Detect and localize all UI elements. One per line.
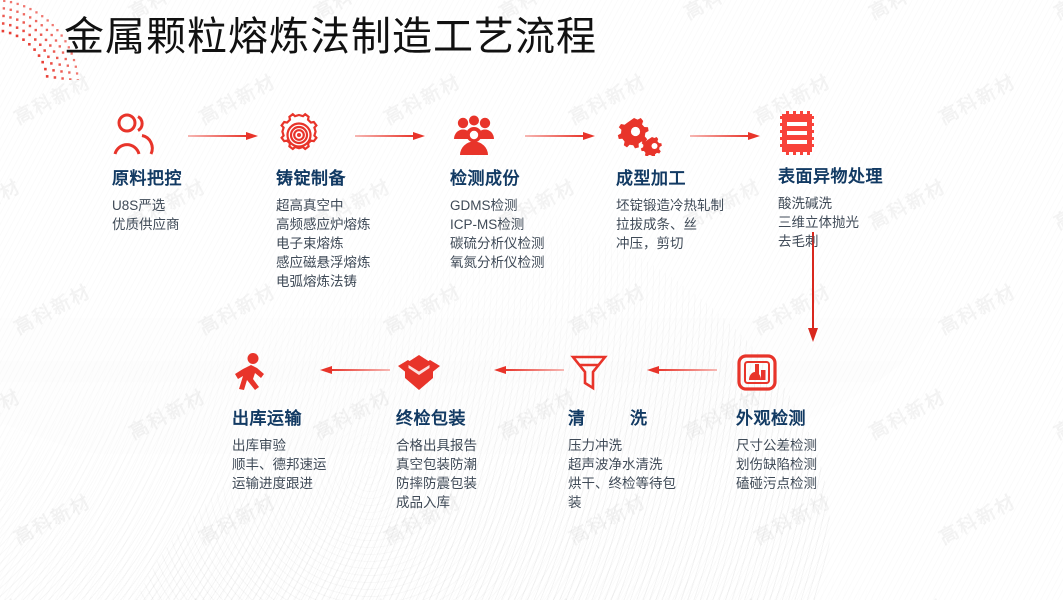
- step-raw-material-control[interactable]: 原料把控 U8S严选 优质供应商: [112, 112, 182, 234]
- page-title: 金属颗粒熔炼法制造工艺流程: [64, 4, 597, 62]
- walking-person-icon: [232, 352, 327, 398]
- step-forming-processing[interactable]: 成型加工 坯锭锻造冷热轧制 拉拔成条、丝 冲压，剪切: [616, 112, 724, 253]
- step-line: 优质供应商: [112, 215, 182, 234]
- step-title: 出库运输: [232, 404, 327, 429]
- background-decoration: [0, 0, 1063, 600]
- funnel-icon: [568, 352, 688, 398]
- step-line: 合格出具报告: [396, 436, 477, 455]
- step-line: ICP-MS检测: [450, 215, 545, 234]
- step-cleaning[interactable]: 清 洗 压力冲洗 超声波净水清洗 烘干、终检等待包装: [568, 352, 688, 512]
- step-line: GDMS检测: [450, 196, 545, 215]
- document-lines-icon: [778, 110, 883, 156]
- arrow-bottom-2: [492, 364, 564, 376]
- step-line: 三维立体抛光: [778, 213, 883, 232]
- step-line: 碳硫分析仪检测: [450, 234, 545, 253]
- step-line: 高频感应炉熔炼: [276, 215, 371, 234]
- arrow-top-1: [188, 130, 258, 142]
- step-title: 原料把控: [112, 164, 182, 189]
- step-line: 拉拔成条、丝: [616, 215, 724, 234]
- step-line: 去毛刺: [778, 232, 883, 251]
- open-box-icon: [396, 352, 477, 398]
- step-line: 真空包装防潮: [396, 455, 477, 474]
- step-line: 划伤缺陷检测: [736, 455, 817, 474]
- step-line: U8S严选: [112, 196, 182, 215]
- step-appearance-inspection[interactable]: 外观检测 尺寸公差检测 划伤缺陷检测 磕碰污点检测: [736, 352, 817, 493]
- step-line: 电子束熔炼: [276, 234, 371, 253]
- step-title: 外观检测: [736, 404, 817, 429]
- step-line: 出库审验: [232, 436, 327, 455]
- arrow-bottom-3: [318, 364, 390, 376]
- step-line: 顺丰、德邦速运: [232, 455, 327, 474]
- step-line: 氧氮分析仪检测: [450, 253, 545, 272]
- step-composition-testing[interactable]: 检测成份 GDMS检测 ICP-MS检测 碳硫分析仪检测 氧氮分析仪检测: [450, 112, 545, 272]
- step-final-inspection-packaging[interactable]: 终检包装 合格出具报告 真空包装防潮 防摔防震包装 成品入库: [396, 352, 477, 512]
- people-group-icon: [450, 112, 545, 158]
- two-persons-icon: [112, 112, 182, 158]
- step-line: 酸洗碱洗: [778, 194, 883, 213]
- step-line: 尺寸公差检测: [736, 436, 817, 455]
- step-surface-treatment[interactable]: 表面异物处理 酸洗碱洗 三维立体抛光 去毛刺: [778, 110, 883, 251]
- step-line: 成品入库: [396, 493, 477, 512]
- step-title: 铸锭制备: [276, 164, 371, 189]
- double-gears-icon: [616, 112, 724, 158]
- step-line: 超高真空中: [276, 196, 371, 215]
- step-title: 终检包装: [396, 404, 477, 429]
- step-title: 表面异物处理: [778, 162, 883, 187]
- step-line: 电弧熔炼法铸: [276, 272, 371, 291]
- step-title: 检测成份: [450, 164, 545, 189]
- step-line: 磕碰污点检测: [736, 474, 817, 493]
- step-outbound-transport[interactable]: 出库运输 出库审验 顺丰、德邦速运 运输进度跟进: [232, 352, 327, 493]
- step-line: 坯锭锻造冷热轧制: [616, 196, 724, 215]
- step-line: 运输进度跟进: [232, 474, 327, 493]
- gear-rings-icon: [276, 112, 371, 158]
- step-line: 冲压，剪切: [616, 234, 724, 253]
- step-line: 烘干、终检等待包装: [568, 474, 680, 512]
- step-line: 压力冲洗: [568, 436, 688, 455]
- inspection-frame-icon: [736, 352, 817, 398]
- step-ingot-preparation[interactable]: 铸锭制备 超高真空中 高频感应炉熔炼 电子束熔炼 感应磁悬浮熔炼 电弧熔炼法铸: [276, 112, 371, 291]
- step-line: 防摔防震包装: [396, 474, 477, 493]
- step-title: 清 洗: [568, 404, 688, 429]
- step-line: 感应磁悬浮熔炼: [276, 253, 371, 272]
- step-title: 成型加工: [616, 164, 724, 189]
- step-line: 超声波净水清洗: [568, 455, 688, 474]
